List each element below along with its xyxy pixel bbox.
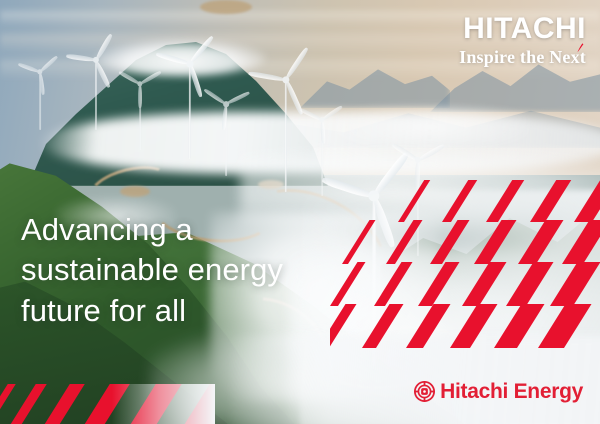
stripe-bar: [442, 180, 478, 222]
hitachi-energy-logo: Hitachi Energy: [414, 381, 583, 402]
turbine-blade: [138, 84, 142, 108]
turbine-tower: [95, 60, 97, 130]
turbine-blade: [221, 104, 228, 130]
turbine-blade: [320, 120, 326, 144]
page-title: Advancing a sustainable energy future fo…: [21, 210, 361, 331]
stripe-bar: [450, 304, 497, 348]
hitachi-tagline-wrapper: Inspire the Next: [459, 48, 586, 66]
stripe-bar: [398, 180, 431, 222]
stripe-bar: [462, 262, 507, 306]
stripe-bar: [180, 384, 215, 424]
red-diagonal-stripe-pattern-bottom: [0, 384, 215, 424]
red-diagonal-stripe-pattern-right: [330, 180, 600, 350]
stripe-bar: [386, 220, 422, 264]
stripe-bar: [574, 180, 600, 222]
stripe-bar: [40, 384, 87, 424]
stripe-bar: [374, 262, 413, 306]
stripe-bar: [518, 220, 563, 264]
turbine-hub: [137, 81, 142, 86]
hitachi-energy-brand-banner: HITACHI Inspire the Next Advancing a sus…: [0, 0, 600, 424]
stripe-bar: [550, 262, 600, 306]
hitachi-tagline-text: Inspire the Next: [459, 47, 586, 67]
stripe-bar: [506, 262, 554, 306]
stripe-bar: [126, 384, 184, 424]
stripe-bar: [406, 304, 450, 348]
stripe-bar: [530, 180, 572, 222]
hitachi-corporate-logo: HITACHI Inspire the Next: [459, 14, 586, 67]
road-clearing: [200, 0, 252, 14]
turbine-hub: [223, 101, 229, 107]
stripe-bar: [362, 304, 403, 348]
turbine-hub: [415, 157, 421, 163]
turbine-hub: [186, 60, 193, 67]
stripe-bar: [562, 220, 600, 264]
red-accent-stroke-icon: [576, 43, 584, 53]
hitachi-energy-emblem-icon: [414, 381, 435, 402]
stripe-bar: [486, 180, 525, 222]
headline-line-1: Advancing a: [21, 210, 361, 250]
stripe-bar: [538, 304, 591, 348]
stripe-bar: [430, 220, 469, 264]
road-clearing: [120, 186, 150, 197]
stripe-bar: [80, 384, 132, 424]
stripe-bar: [494, 304, 544, 348]
stripe-bar: [474, 220, 516, 264]
headline-line-2: sustainable energy: [21, 250, 361, 290]
hitachi-wordmark: HITACHI: [459, 14, 586, 44]
stripe-bar: [6, 384, 49, 424]
hitachi-energy-wordmark: Hitachi Energy: [440, 381, 583, 402]
stripe-bar: [418, 262, 460, 306]
turbine-hub: [37, 69, 42, 74]
headline-line-3: future for all: [21, 291, 361, 331]
turbine-hub: [319, 117, 324, 122]
